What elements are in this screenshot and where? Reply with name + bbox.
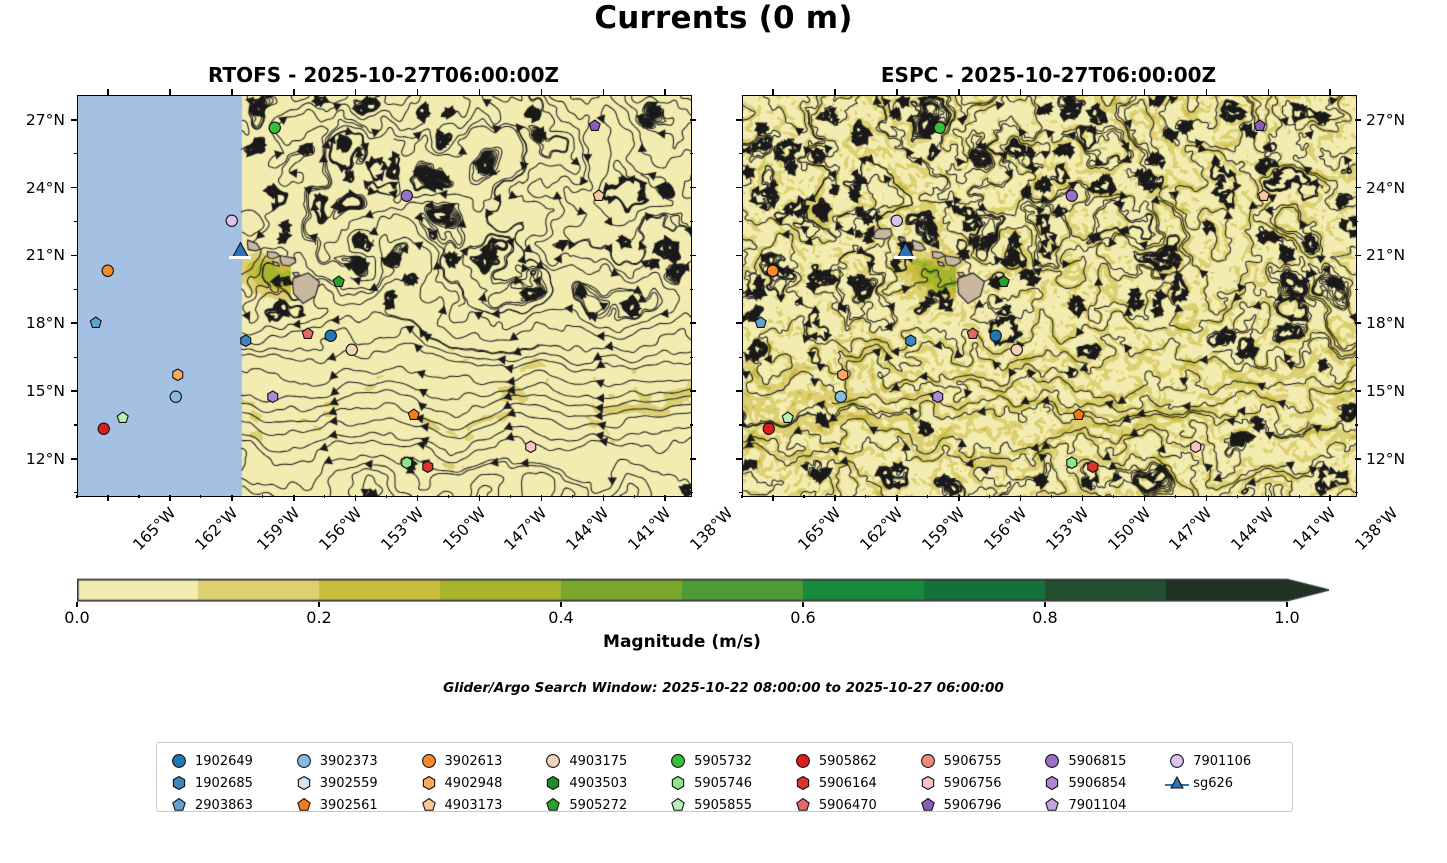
axis-tick bbox=[76, 602, 78, 607]
legend-marker-hexagon-icon bbox=[665, 773, 691, 793]
legend-entry-3902561[interactable]: 3902561 bbox=[291, 794, 410, 816]
axis-tick bbox=[231, 495, 233, 501]
map-marker-5905746[interactable] bbox=[1065, 454, 1079, 468]
axis-tick bbox=[739, 492, 742, 493]
legend-entry-5905732[interactable]: 5905732 bbox=[665, 750, 784, 772]
axis-tick bbox=[107, 89, 109, 95]
legend-marker-hexagon-icon bbox=[915, 773, 941, 793]
axis-tick bbox=[927, 495, 928, 498]
xtick-label: 156°W bbox=[980, 504, 1030, 554]
axis-tick bbox=[690, 458, 696, 460]
panel-title-rtofs: RTOFS - 2025-10-27T06:00:00Z bbox=[77, 63, 690, 87]
legend-entry-4903175[interactable]: 4903175 bbox=[540, 750, 659, 772]
map-marker-5906815[interactable] bbox=[400, 188, 414, 202]
legend-label: 7901106 bbox=[1190, 754, 1251, 769]
axis-tick bbox=[74, 289, 77, 290]
legend-entry-5906815[interactable]: 5906815 bbox=[1039, 750, 1158, 772]
axis-tick bbox=[690, 221, 693, 222]
axis-tick bbox=[74, 153, 77, 154]
axis-tick bbox=[169, 89, 171, 95]
axis-tick bbox=[1144, 89, 1146, 95]
legend-marker-pentagon-icon bbox=[291, 795, 317, 815]
axis-tick bbox=[989, 495, 990, 498]
axis-tick bbox=[1355, 390, 1361, 392]
map-marker-5906815[interactable] bbox=[1065, 188, 1079, 202]
xtick-label: 159°W bbox=[918, 504, 968, 554]
legend-marker-pentagon-icon bbox=[166, 795, 192, 815]
legend-marker-hexagon-icon bbox=[416, 773, 442, 793]
axis-tick bbox=[736, 119, 742, 121]
map-marker-5906854[interactable] bbox=[931, 389, 945, 403]
map-marker-5905732[interactable] bbox=[268, 120, 282, 134]
legend-entry-5905862[interactable]: 5905862 bbox=[790, 750, 909, 772]
panel-title-espc: ESPC - 2025-10-27T06:00:00Z bbox=[742, 63, 1355, 87]
ytick-label-right: 27°N bbox=[1366, 111, 1405, 129]
axis-tick bbox=[772, 89, 774, 95]
xtick-label: 147°W bbox=[1166, 504, 1216, 554]
map-marker-5905855[interactable] bbox=[116, 409, 130, 423]
legend-entry-5906470[interactable]: 5906470 bbox=[790, 794, 909, 816]
legend-marker-pentagon-icon bbox=[915, 795, 941, 815]
map-panel-espc[interactable] bbox=[742, 95, 1357, 497]
legend-marker-pentagon-icon bbox=[540, 795, 566, 815]
axis-tick bbox=[741, 495, 742, 498]
axis-tick bbox=[417, 89, 419, 95]
axis-tick bbox=[739, 424, 742, 425]
axis-tick bbox=[74, 424, 77, 425]
search-window-text: Glider/Argo Search Window: 2025-10-22 08… bbox=[0, 680, 1447, 696]
axis-tick bbox=[1329, 89, 1331, 95]
legend-entry-4902948[interactable]: 4902948 bbox=[416, 772, 535, 794]
axis-tick bbox=[603, 89, 605, 95]
legend-marker-circle-icon bbox=[291, 751, 317, 771]
axis-tick bbox=[690, 424, 693, 425]
map-marker-1902685[interactable] bbox=[904, 332, 918, 346]
map-marker-7901106[interactable] bbox=[890, 213, 904, 227]
axis-tick bbox=[664, 89, 666, 95]
legend-marker-pentagon-icon bbox=[416, 795, 442, 815]
axis-tick bbox=[1355, 255, 1361, 257]
glider-track-sg626 bbox=[229, 256, 251, 259]
axis-tick bbox=[355, 89, 357, 95]
axis-tick bbox=[896, 89, 898, 95]
ytick-label-right: 12°N bbox=[1366, 450, 1405, 468]
xtick-label: 144°W bbox=[1228, 504, 1278, 554]
map-marker-5905855[interactable] bbox=[781, 409, 795, 423]
legend-marker-hexagon-icon bbox=[540, 773, 566, 793]
axis-tick bbox=[541, 89, 543, 95]
axis-tick bbox=[293, 89, 295, 95]
axis-tick bbox=[1268, 495, 1270, 501]
colorbar-tick-label: 0.2 bbox=[306, 608, 331, 627]
legend-label: 5906164 bbox=[816, 776, 877, 791]
legend-entry-5906796[interactable]: 5906796 bbox=[915, 794, 1034, 816]
legend-label: sg626 bbox=[1190, 776, 1233, 791]
map-marker-5905272[interactable] bbox=[997, 274, 1011, 288]
legend-label: 3902613 bbox=[442, 754, 503, 769]
map-marker-3902561[interactable] bbox=[407, 407, 421, 421]
legend-label: 5906756 bbox=[941, 776, 1002, 791]
axis-tick bbox=[1175, 495, 1176, 498]
axis-tick bbox=[690, 322, 696, 324]
map-marker-5906470[interactable] bbox=[966, 326, 980, 340]
ytick-label-right: 24°N bbox=[1366, 179, 1405, 197]
axis-tick bbox=[664, 495, 666, 501]
axis-tick bbox=[318, 602, 320, 607]
map-marker-4903173[interactable] bbox=[1257, 188, 1271, 202]
map-marker-5906796[interactable] bbox=[1253, 118, 1267, 132]
axis-tick bbox=[1355, 424, 1358, 425]
axis-tick bbox=[1044, 602, 1046, 607]
legend-marker-circle-icon bbox=[790, 751, 816, 771]
colorbar-label: Magnitude (m/s) bbox=[77, 632, 1287, 652]
axis-tick bbox=[865, 495, 866, 498]
ytick-label-left: 21°N bbox=[1, 246, 65, 264]
axis-tick bbox=[1206, 89, 1208, 95]
legend-entry-5906756[interactable]: 5906756 bbox=[915, 772, 1034, 794]
legend-label: 3902559 bbox=[317, 776, 378, 791]
axis-tick bbox=[479, 89, 481, 95]
axis-tick bbox=[541, 495, 543, 501]
legend-entry-3902613[interactable]: 3902613 bbox=[416, 750, 535, 772]
axis-tick bbox=[690, 289, 693, 290]
axis-tick bbox=[690, 119, 696, 121]
legend-entry-5905272[interactable]: 5905272 bbox=[540, 794, 659, 816]
map-marker-5905746[interactable] bbox=[400, 454, 414, 468]
legend-label: 5905272 bbox=[566, 798, 627, 813]
map-canvas-espc bbox=[743, 96, 1356, 496]
map-marker-3902613[interactable] bbox=[101, 262, 115, 276]
map-marker-5906854[interactable] bbox=[266, 389, 280, 403]
map-marker-1902685[interactable] bbox=[239, 332, 253, 346]
axis-tick bbox=[1286, 602, 1288, 607]
legend-marker-circle-icon bbox=[915, 751, 941, 771]
legend-label: 5906796 bbox=[941, 798, 1002, 813]
ytick-label-right: 15°N bbox=[1366, 382, 1405, 400]
legend-grid: 1902649190268529038633902373390255939025… bbox=[157, 743, 1292, 823]
map-marker-4902948[interactable] bbox=[171, 366, 185, 380]
xtick-label: 141°W bbox=[625, 504, 675, 554]
colorbar-tick-label: 1.0 bbox=[1274, 608, 1299, 627]
xtick-label: 153°W bbox=[377, 504, 427, 554]
legend-entry-4903173[interactable]: 4903173 bbox=[416, 794, 535, 816]
axis-tick bbox=[802, 602, 804, 607]
axis-tick bbox=[739, 221, 742, 222]
legend-label: 3902561 bbox=[317, 798, 378, 813]
map-marker-5906164[interactable] bbox=[421, 459, 435, 473]
legend-label: 5906755 bbox=[941, 754, 1002, 769]
xtick-label: 162°W bbox=[191, 504, 241, 554]
legend-marker-pentagon-icon bbox=[665, 795, 691, 815]
legend-marker-hexagon-icon bbox=[291, 773, 317, 793]
axis-tick bbox=[107, 495, 109, 501]
colorbar-tick-label: 0.0 bbox=[64, 608, 89, 627]
axis-tick bbox=[1113, 495, 1114, 498]
map-marker-5906756[interactable] bbox=[1189, 439, 1203, 453]
legend-marker-circle-icon bbox=[166, 751, 192, 771]
axis-tick bbox=[834, 495, 836, 501]
legend-marker-hexagon-icon bbox=[790, 773, 816, 793]
axis-tick bbox=[1355, 458, 1361, 460]
axis-tick bbox=[834, 89, 836, 95]
axis-tick bbox=[71, 458, 77, 460]
axis-tick bbox=[71, 255, 77, 257]
legend-label: 5905855 bbox=[691, 798, 752, 813]
legend-entry-3902559[interactable]: 3902559 bbox=[291, 772, 410, 794]
legend-label: 1902649 bbox=[192, 754, 253, 769]
axis-tick bbox=[736, 458, 742, 460]
legend-entry-7901104[interactable]: 7901104 bbox=[1039, 794, 1158, 816]
colorbar-canvas bbox=[77, 578, 1329, 602]
map-marker-5905272[interactable] bbox=[332, 274, 346, 288]
ytick-label-left: 12°N bbox=[1, 450, 65, 468]
legend-marker-circle-icon bbox=[540, 751, 566, 771]
axis-tick bbox=[71, 187, 77, 189]
axis-tick bbox=[71, 119, 77, 121]
colorbar bbox=[77, 578, 1329, 600]
map-marker-5905862[interactable] bbox=[97, 420, 111, 434]
axis-tick bbox=[169, 495, 171, 501]
axis-tick bbox=[634, 495, 635, 498]
axis-tick bbox=[690, 357, 693, 358]
axis-tick bbox=[71, 322, 77, 324]
map-marker-5906756[interactable] bbox=[524, 439, 538, 453]
legend-label: 2903863 bbox=[192, 798, 253, 813]
xtick-label: 150°W bbox=[1104, 504, 1154, 554]
axis-tick bbox=[324, 495, 325, 498]
xtick-label: 141°W bbox=[1290, 504, 1340, 554]
axis-tick bbox=[1051, 495, 1052, 498]
axis-tick bbox=[1355, 153, 1358, 154]
axis-tick bbox=[1355, 289, 1358, 290]
axis-tick bbox=[74, 221, 77, 222]
map-marker-4903175[interactable] bbox=[345, 341, 359, 355]
legend-marker-circle-icon bbox=[1039, 751, 1065, 771]
axis-tick bbox=[262, 495, 263, 498]
legend-entry-2903863[interactable]: 2903863 bbox=[166, 794, 285, 816]
legend-entry-1902649[interactable]: 1902649 bbox=[166, 750, 285, 772]
map-marker-3902373[interactable] bbox=[834, 389, 848, 403]
axis-tick bbox=[1355, 221, 1358, 222]
ytick-label-right: 18°N bbox=[1366, 314, 1405, 332]
axis-tick bbox=[71, 390, 77, 392]
legend-entry-4903503[interactable]: 4903503 bbox=[540, 772, 659, 794]
axis-tick bbox=[1355, 187, 1361, 189]
legend-label: 5905862 bbox=[816, 754, 877, 769]
xtick-label: 147°W bbox=[501, 504, 551, 554]
map-marker-5905862[interactable] bbox=[762, 420, 776, 434]
legend-label: 3902373 bbox=[317, 754, 378, 769]
legend-entry-5906164[interactable]: 5906164 bbox=[790, 772, 909, 794]
legend-marker-circle-icon bbox=[416, 751, 442, 771]
axis-tick bbox=[386, 495, 387, 498]
axis-tick bbox=[739, 153, 742, 154]
legend-marker-glider-icon bbox=[1164, 773, 1190, 793]
float-legend: 1902649190268529038633902373390255939025… bbox=[156, 742, 1293, 812]
ytick-label-left: 15°N bbox=[1, 382, 65, 400]
legend-label: 4903503 bbox=[566, 776, 627, 791]
axis-tick bbox=[1355, 322, 1361, 324]
legend-label: 5905732 bbox=[691, 754, 752, 769]
axis-tick bbox=[560, 602, 562, 607]
xtick-label: 138°W bbox=[687, 504, 737, 554]
legend-label: 4903173 bbox=[442, 798, 503, 813]
axis-tick bbox=[231, 89, 233, 95]
legend-entry-5905746[interactable]: 5905746 bbox=[665, 772, 784, 794]
axis-tick bbox=[355, 495, 357, 501]
legend-entry-5905855[interactable]: 5905855 bbox=[665, 794, 784, 816]
map-marker-4903173[interactable] bbox=[592, 188, 606, 202]
xtick-label: 165°W bbox=[129, 504, 179, 554]
axis-tick bbox=[603, 495, 605, 501]
axis-tick bbox=[1355, 492, 1358, 493]
legend-entry-sg626[interactable]: sg626 bbox=[1164, 772, 1283, 794]
map-marker-4903175[interactable] bbox=[1010, 341, 1024, 355]
xtick-label: 150°W bbox=[439, 504, 489, 554]
figure-title: Currents (0 m) bbox=[0, 0, 1447, 36]
legend-marker-circle-icon bbox=[1164, 751, 1190, 771]
axis-tick bbox=[1237, 495, 1238, 498]
map-marker-1902649[interactable] bbox=[324, 328, 338, 342]
axis-tick bbox=[896, 495, 898, 501]
axis-tick bbox=[479, 495, 481, 501]
legend-label: 4903175 bbox=[566, 754, 627, 769]
legend-entry-5906854[interactable]: 5906854 bbox=[1039, 772, 1158, 794]
legend-marker-hexagon-icon bbox=[1039, 773, 1065, 793]
legend-entry-1902685[interactable]: 1902685 bbox=[166, 772, 285, 794]
legend-marker-hexagon-icon bbox=[166, 773, 192, 793]
axis-tick bbox=[736, 187, 742, 189]
axis-tick bbox=[772, 495, 774, 501]
xtick-label: 156°W bbox=[315, 504, 365, 554]
xtick-label: 138°W bbox=[1352, 504, 1402, 554]
legend-label: 5906470 bbox=[816, 798, 877, 813]
map-marker-5906164[interactable] bbox=[1086, 459, 1100, 473]
xtick-label: 159°W bbox=[253, 504, 303, 554]
axis-tick bbox=[1355, 357, 1358, 358]
legend-label: 1902685 bbox=[192, 776, 253, 791]
legend-label: 5906854 bbox=[1065, 776, 1126, 791]
axis-tick bbox=[690, 187, 696, 189]
ytick-label-left: 18°N bbox=[1, 314, 65, 332]
ytick-label-left: 24°N bbox=[1, 179, 65, 197]
map-marker-3902613[interactable] bbox=[766, 262, 780, 276]
legend-label: 7901104 bbox=[1065, 798, 1126, 813]
legend-marker-pentagon-icon bbox=[790, 795, 816, 815]
axis-tick bbox=[1355, 119, 1361, 121]
xtick-label: 165°W bbox=[794, 504, 844, 554]
colorbar-tick-label: 0.4 bbox=[548, 608, 573, 627]
axis-tick bbox=[293, 495, 295, 501]
axis-tick bbox=[74, 492, 77, 493]
axis-tick bbox=[1268, 89, 1270, 95]
axis-tick bbox=[417, 495, 419, 501]
xtick-label: 153°W bbox=[1042, 504, 1092, 554]
axis-tick bbox=[1082, 89, 1084, 95]
colorbar-tick-label: 0.8 bbox=[1032, 608, 1057, 627]
map-marker-2903863[interactable] bbox=[754, 314, 768, 328]
glider-track-sg626 bbox=[894, 256, 916, 259]
axis-tick bbox=[690, 390, 696, 392]
axis-tick bbox=[690, 492, 693, 493]
ytick-label-right: 21°N bbox=[1366, 246, 1405, 264]
axis-tick bbox=[1020, 495, 1022, 501]
map-marker-4902948[interactable] bbox=[836, 366, 850, 380]
axis-tick bbox=[1082, 495, 1084, 501]
map-panel-rtofs[interactable] bbox=[77, 95, 692, 497]
axis-tick bbox=[448, 495, 449, 498]
axis-tick bbox=[739, 289, 742, 290]
axis-tick bbox=[510, 495, 511, 498]
axis-tick bbox=[74, 357, 77, 358]
map-canvas-rtofs bbox=[78, 96, 691, 496]
axis-tick bbox=[690, 153, 693, 154]
map-marker-5906470[interactable] bbox=[301, 326, 315, 340]
axis-tick bbox=[803, 495, 804, 498]
xtick-label: 162°W bbox=[856, 504, 906, 554]
axis-tick bbox=[138, 495, 139, 498]
legend-marker-pentagon-icon bbox=[1039, 795, 1065, 815]
legend-label: 5905746 bbox=[691, 776, 752, 791]
legend-entry-7901106[interactable]: 7901106 bbox=[1164, 750, 1283, 772]
axis-tick bbox=[1020, 89, 1022, 95]
axis-tick bbox=[958, 495, 960, 501]
xtick-label: 144°W bbox=[563, 504, 613, 554]
map-marker-7901106[interactable] bbox=[225, 213, 239, 227]
legend-label: 4902948 bbox=[442, 776, 503, 791]
axis-tick bbox=[1144, 495, 1146, 501]
axis-tick bbox=[690, 255, 696, 257]
axis-tick bbox=[1329, 495, 1331, 501]
map-marker-1902649[interactable] bbox=[989, 328, 1003, 342]
map-marker-5906796[interactable] bbox=[588, 118, 602, 132]
legend-label: 5906815 bbox=[1065, 754, 1126, 769]
axis-tick bbox=[200, 495, 201, 498]
axis-tick bbox=[1299, 495, 1300, 498]
axis-tick bbox=[739, 357, 742, 358]
legend-entry-5906755[interactable]: 5906755 bbox=[915, 750, 1034, 772]
axis-tick bbox=[1206, 495, 1208, 501]
map-marker-3902561[interactable] bbox=[1072, 407, 1086, 421]
colorbar-tick-label: 0.6 bbox=[790, 608, 815, 627]
legend-entry-3902373[interactable]: 3902373 bbox=[291, 750, 410, 772]
legend-marker-circle-icon bbox=[665, 751, 691, 771]
axis-tick bbox=[736, 390, 742, 392]
axis-tick bbox=[76, 495, 77, 498]
map-marker-3902373[interactable] bbox=[169, 389, 183, 403]
axis-tick bbox=[572, 495, 573, 498]
axis-tick bbox=[958, 89, 960, 95]
axis-tick bbox=[736, 322, 742, 324]
map-marker-5905732[interactable] bbox=[933, 120, 947, 134]
map-marker-2903863[interactable] bbox=[89, 314, 103, 328]
ytick-label-left: 27°N bbox=[1, 111, 65, 129]
axis-tick bbox=[736, 255, 742, 257]
